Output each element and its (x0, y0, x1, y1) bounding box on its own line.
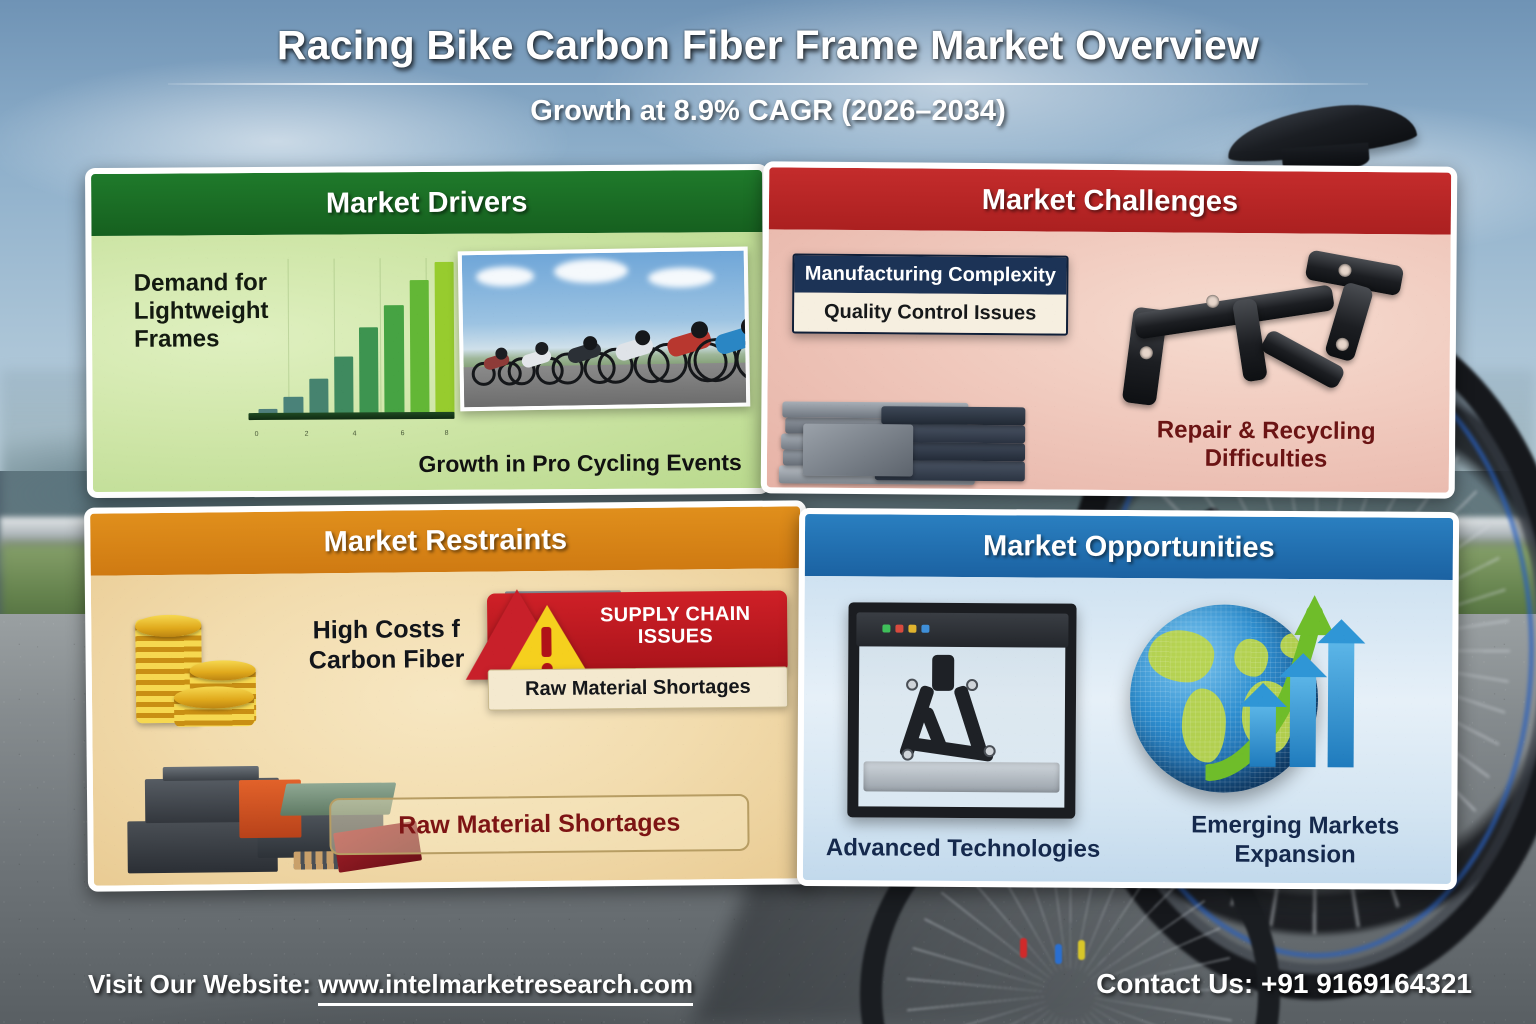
valve-yellow (1078, 940, 1085, 960)
drivers-body: Demand for Lightweight Frames 0 2 4 6 8 (91, 232, 764, 492)
challenges-header-bar: Market Challenges (769, 167, 1451, 234)
chart-bar (359, 328, 379, 415)
valve-blue (1055, 944, 1062, 964)
quality-control-label: Quality Control Issues (794, 293, 1066, 334)
header: Racing Bike Carbon Fiber Frame Market Ov… (0, 0, 1536, 128)
challenges-heading: Market Challenges (982, 183, 1239, 218)
restraints-header-bar: Market Restraints (90, 506, 801, 575)
chart-bar (309, 378, 328, 415)
panel-market-challenges: Market Challenges Manufacturing Complexi… (761, 161, 1458, 498)
carbon-frame-illustration (1109, 250, 1410, 412)
restraints-heading: Market Restraints (324, 523, 568, 559)
website-prefix: Visit Our Website: (88, 969, 318, 999)
drivers-photo-caption: Growth in Pro Cycling Events (418, 449, 741, 478)
drivers-header-bar: Market Drivers (91, 170, 762, 236)
chart-bar (409, 280, 429, 414)
panel-market-restraints: Market Restraints High Costs f Carbon Fi… (84, 500, 810, 892)
page-title: Racing Bike Carbon Fiber Frame Market Ov… (0, 22, 1536, 69)
high-costs-label: High Costs f Carbon Fiber (281, 614, 492, 676)
opportunities-body: Advanced Technologies (803, 576, 1453, 884)
title-divider (168, 83, 1368, 85)
website-url[interactable]: www.intelmarketresearch.com (318, 969, 693, 1006)
supply-chain-warning: SUPPLY CHAIN ISSUES Raw Material Shortag… (487, 590, 788, 710)
panel-market-drivers: Market Drivers Demand for Lightweight Fr… (85, 164, 770, 498)
repair-recycling-caption: Repair & Recycling Difficulties (1121, 416, 1411, 474)
raw-material-shortages-box: Raw Material Shortages (329, 794, 750, 855)
restraints-body: High Costs f Carbon Fiber SUPPLY CHAIN I… (91, 568, 804, 885)
valve-red (1020, 938, 1027, 958)
chart-bar (434, 262, 454, 414)
panel-market-opportunities: Market Opportunities (797, 508, 1459, 890)
contact-line: Contact Us: +91 9169164321 (1096, 968, 1472, 1000)
growth-arrows (1205, 594, 1356, 785)
opportunities-heading: Market Opportunities (983, 530, 1275, 565)
chart-baseline (248, 412, 454, 420)
emerging-markets-caption: Emerging Markets Expansion (1165, 812, 1425, 870)
raw-material-shortages-strip: Raw Material Shortages (488, 666, 788, 710)
chart-bar (334, 357, 354, 415)
panel-board: Market Drivers Demand for Lightweight Fr… (86, 166, 1454, 888)
3d-printer-illustration (847, 602, 1076, 818)
printer-status-leds (882, 624, 929, 632)
manufacturing-complexity-label: Manufacturing Complexity (794, 256, 1066, 295)
pro-cycling-photo (458, 247, 751, 412)
chart-bar (384, 305, 404, 415)
drivers-heading: Market Drivers (326, 186, 528, 220)
blue-arrow-large (1328, 641, 1355, 767)
chart-bars (258, 262, 455, 415)
gold-coins-icon (129, 614, 280, 746)
lightweight-demand-bar-chart: 0 2 4 6 8 (242, 258, 458, 429)
advanced-technologies-caption: Advanced Technologies (813, 834, 1113, 864)
blue-arrow-medium (1290, 675, 1317, 767)
composite-mold-stack (779, 355, 1080, 485)
website-line: Visit Our Website: www.intelmarketresear… (88, 969, 693, 1000)
blue-arrow-small (1250, 705, 1276, 767)
page-subtitle: Growth at 8.9% CAGR (2026–2034) (0, 95, 1536, 128)
warning-triangle-icon (465, 589, 570, 680)
opportunities-header-bar: Market Opportunities (805, 514, 1453, 580)
manufacturing-complexity-box: Manufacturing Complexity Quality Control… (792, 254, 1069, 336)
challenges-body: Manufacturing Complexity Quality Control… (767, 229, 1451, 492)
